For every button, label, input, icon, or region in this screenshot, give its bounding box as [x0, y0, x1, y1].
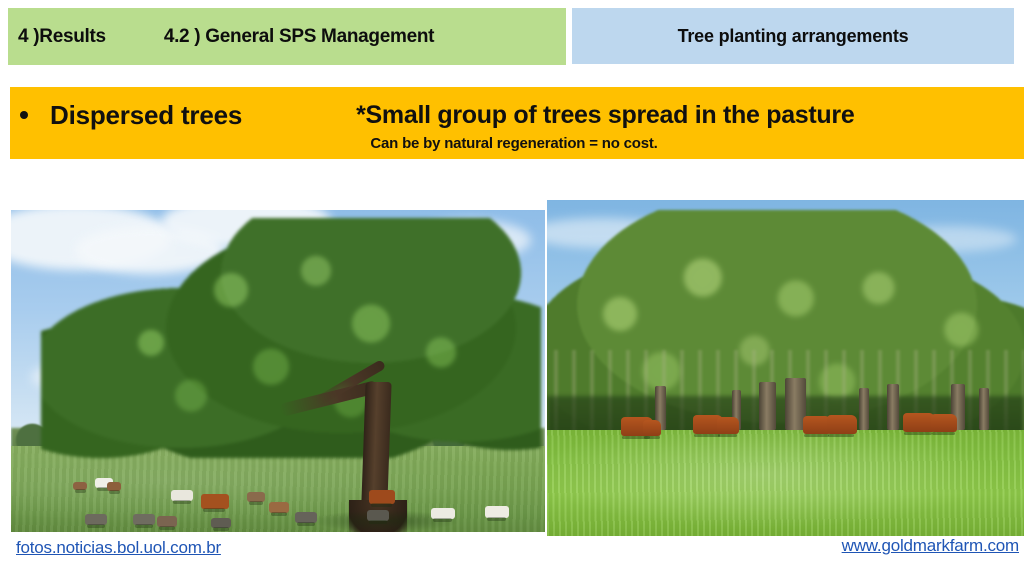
topic-label: Tree planting arrangements — [678, 26, 909, 47]
cattle — [485, 506, 509, 518]
cattle — [73, 482, 87, 490]
cattle — [201, 494, 229, 509]
oak-trunk — [859, 388, 869, 430]
source-link-right[interactable]: www.goldmarkfarm.com — [842, 536, 1019, 556]
oak-trunk — [979, 388, 989, 430]
cattle — [269, 502, 289, 513]
callout-bullet-label: Dispersed trees — [50, 100, 242, 131]
figure-oak-grove-horses — [547, 200, 1024, 536]
horse — [643, 420, 661, 436]
callout-band: Dispersed trees *Small group of trees sp… — [10, 87, 1024, 159]
cattle — [107, 482, 121, 491]
pasture-grass — [547, 430, 1024, 536]
cattle — [367, 510, 389, 521]
cattle — [369, 490, 395, 504]
cattle — [247, 492, 265, 502]
topic-header-box: Tree planting arrangements — [572, 8, 1014, 64]
slide-canvas: 4 )Results 4.2 ) General SPS Management … — [0, 0, 1024, 576]
callout-detail-label: *Small group of trees spread in the past… — [356, 101, 854, 130]
horse — [717, 417, 739, 434]
figure-dispersed-single-tree-pasture — [11, 210, 545, 532]
horse — [931, 414, 957, 432]
source-link-left[interactable]: fotos.noticias.bol.uol.com.br — [16, 538, 221, 558]
oak-trunk — [759, 382, 776, 430]
oak-trunk — [887, 384, 899, 430]
cattle — [295, 512, 317, 523]
section-header-bar: 4 )Results 4.2 ) General SPS Management — [8, 8, 566, 65]
cattle — [133, 514, 155, 525]
cattle — [157, 516, 177, 527]
cattle — [431, 508, 455, 519]
cattle — [211, 518, 231, 528]
bullet-point-icon — [20, 111, 28, 119]
tree-canopy-texture — [41, 218, 541, 458]
callout-secondary-row: Can be by natural regeneration = no cost… — [10, 135, 1024, 153]
cattle — [171, 490, 193, 501]
callout-subnote-label: Can be by natural regeneration = no cost… — [370, 135, 657, 152]
cattle — [85, 514, 107, 525]
results-label: 4 )Results — [18, 26, 106, 48]
section-label: 4.2 ) General SPS Management — [164, 26, 434, 48]
callout-primary-row: Dispersed trees *Small group of trees sp… — [10, 95, 1024, 135]
horse — [827, 415, 857, 434]
